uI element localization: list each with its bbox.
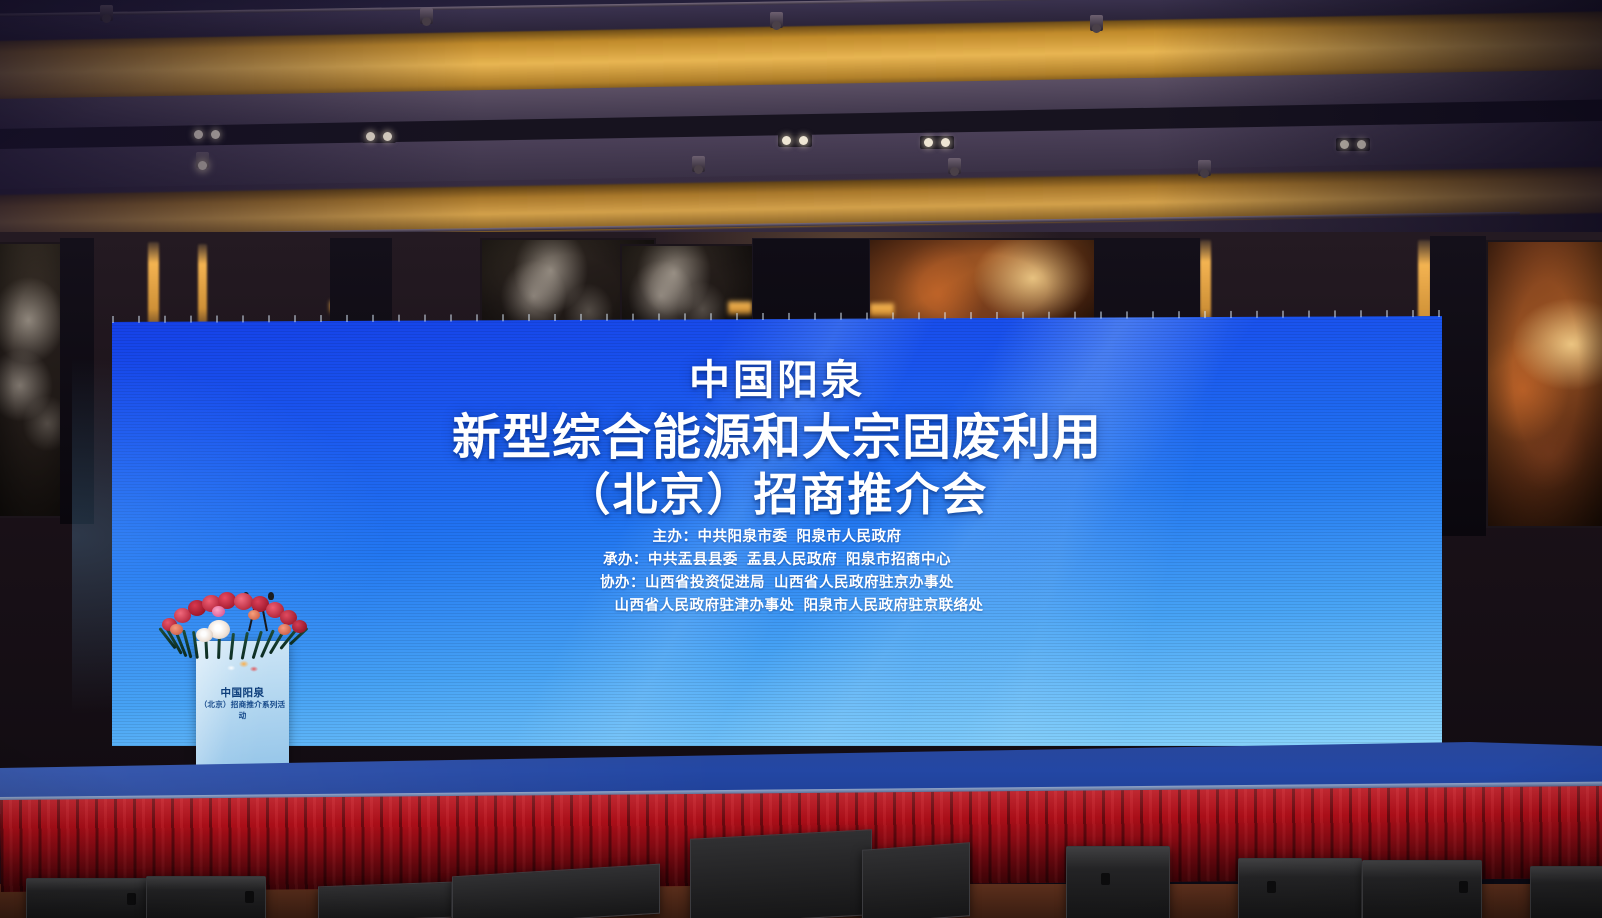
lily-flower (196, 628, 213, 642)
speaker-cabinet (1362, 860, 1482, 918)
speaker-cabinet (146, 876, 266, 918)
speaker-cabinet (26, 878, 148, 918)
speaker-cabinet (1530, 866, 1602, 918)
flower (234, 593, 253, 610)
stage-monitor-wedge (318, 882, 452, 918)
flower-accent (170, 624, 183, 635)
flower-accent (248, 610, 260, 620)
stage-monitor-wedge (690, 829, 872, 918)
event-title-line-2: 新型综合能源和大宗固废利用 (112, 414, 1442, 463)
flower-accent (212, 606, 225, 617)
event-title-line-3: （北京）招商推介会 (112, 472, 1442, 517)
flower-accent (278, 624, 291, 635)
led-backdrop-screen: 中国阳泉 新型综合能源和大宗固废利用 （北京）招商推介会 主办：中共阳泉市委 阳… (112, 316, 1442, 746)
organizer-line-undertaker: 承办：中共盂县县委 盂县人民政府 阳泉市招商中心 (112, 549, 1442, 572)
flower (292, 620, 307, 633)
podium-title-line-2: （北京）招商推介系列活动 (196, 699, 289, 721)
speaker-cabinet (1066, 846, 1170, 918)
floral-arrangement (152, 590, 318, 662)
organizer-line-host: 主办：中共阳泉市委 阳泉市人民政府 (112, 526, 1442, 549)
podium-title-line-1: 中国阳泉 (196, 685, 289, 700)
led-screen-content: 中国阳泉 新型综合能源和大宗固废利用 （北京）招商推介会 主办：中共阳泉市委 阳… (112, 316, 1442, 746)
speaker-cabinet (1238, 858, 1362, 918)
ceiling-shading (0, 0, 1602, 238)
ceiling (0, 0, 1602, 238)
event-title-line-1: 中国阳泉 (112, 360, 1442, 401)
stage-monitor-wedge (862, 842, 970, 918)
artwork-panel-far-right (1486, 240, 1602, 528)
conference-stage-photo: 中国阳泉 新型综合能源和大宗固废利用 （北京）招商推介会 主办：中共阳泉市委 阳… (0, 0, 1602, 918)
